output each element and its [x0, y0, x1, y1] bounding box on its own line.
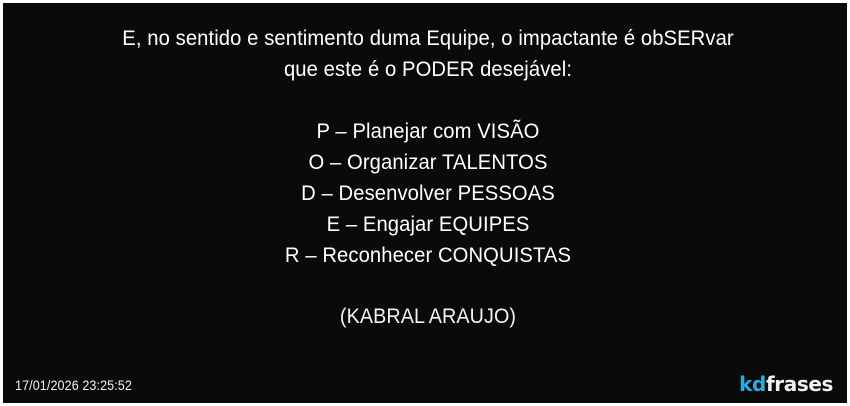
timestamp-label: 17/01/2026 23:25:52	[15, 378, 132, 393]
logo-frases-text: frases	[766, 372, 833, 396]
acronym-line-o: O – Organizar TALENTOS	[29, 147, 828, 178]
quote-line-2: que este é o PODER desejável:	[29, 54, 828, 85]
kdfrases-logo[interactable]: kdfrases	[739, 373, 833, 395]
acronym-line-p: P – Planejar com VISÃO	[29, 116, 828, 147]
quote-blank-line-1	[3, 85, 850, 116]
quote-line-1: E, no sentido e sentimento duma Equipe, …	[29, 23, 828, 54]
quote-text-block: E, no sentido e sentimento duma Equipe, …	[3, 23, 850, 332]
acronym-line-r: R – Reconhecer CONQUISTAS	[29, 240, 828, 271]
acronym-line-e: E – Engajar EQUIPES	[29, 209, 828, 240]
logo-kd-text: kd	[739, 372, 766, 396]
quote-blank-line-2	[3, 271, 850, 301]
acronym-line-d: D – Desenvolver PESSOAS	[29, 178, 828, 209]
quote-card: E, no sentido e sentimento duma Equipe, …	[0, 0, 850, 406]
quote-author: (KABRAL ARAUJO)	[29, 301, 828, 332]
